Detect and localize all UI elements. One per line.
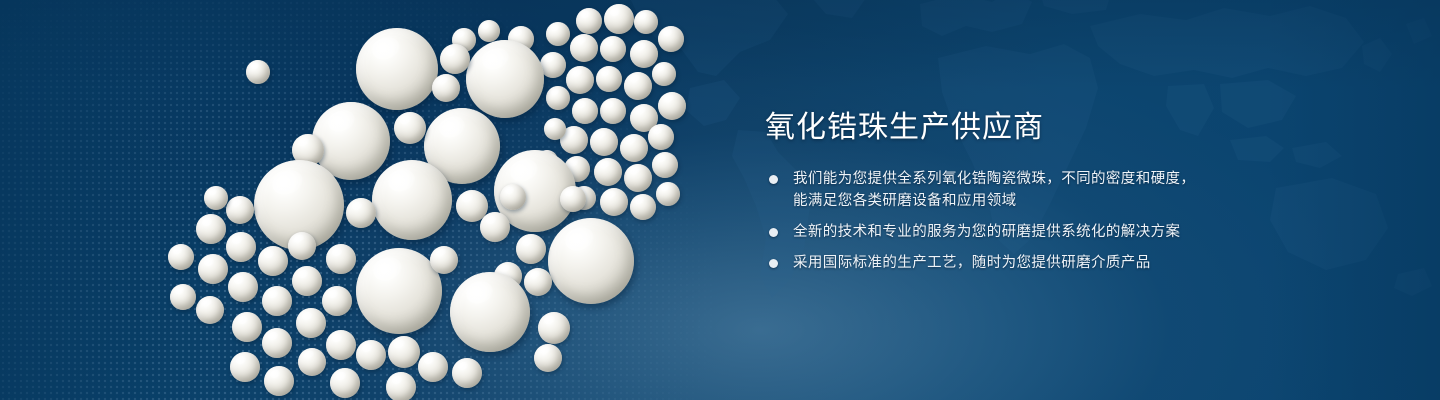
bullet-item: 我们能为您提供全系列氧化锆陶瓷微珠，不同的密度和硬度， 能满足您各类研磨设备和应…: [765, 168, 1365, 212]
bullet-line-1: 采用国际标准的生产工艺，随时为您提供研磨介质产品: [793, 255, 1151, 271]
bullet-dot-icon: [769, 175, 778, 184]
banner-bullet-list: 我们能为您提供全系列氧化锆陶瓷微珠，不同的密度和硬度， 能满足您各类研磨设备和应…: [765, 168, 1365, 274]
bullet-line-1: 我们能为您提供全系列氧化锆陶瓷微珠，不同的密度和硬度，: [793, 171, 1195, 187]
bullet-text: 采用国际标准的生产工艺，随时为您提供研磨介质产品: [793, 252, 1365, 274]
banner-title: 氧化锆珠生产供应商: [765, 110, 1044, 146]
bullet-text: 全新的技术和专业的服务为您的研磨提供系统化的解决方案: [793, 221, 1365, 243]
bullet-item: 全新的技术和专业的服务为您的研磨提供系统化的解决方案: [765, 221, 1365, 243]
bullet-dot-icon: [769, 259, 778, 268]
bullet-item: 采用国际标准的生产工艺，随时为您提供研磨介质产品: [765, 252, 1365, 274]
bullet-text: 我们能为您提供全系列氧化锆陶瓷微珠，不同的密度和硬度， 能满足您各类研磨设备和应…: [793, 168, 1365, 212]
hero-banner: 氧化锆珠生产供应商 我们能为您提供全系列氧化锆陶瓷微珠，不同的密度和硬度， 能满…: [0, 0, 1440, 400]
bullet-dot-icon: [769, 228, 778, 237]
banner-copy: 氧化锆珠生产供应商 我们能为您提供全系列氧化锆陶瓷微珠，不同的密度和硬度， 能满…: [763, 0, 1383, 400]
bullet-line-2: 能满足您各类研磨设备和应用领域: [793, 190, 1365, 212]
bullet-line-1: 全新的技术和专业的服务为您的研磨提供系统化的解决方案: [793, 224, 1180, 240]
